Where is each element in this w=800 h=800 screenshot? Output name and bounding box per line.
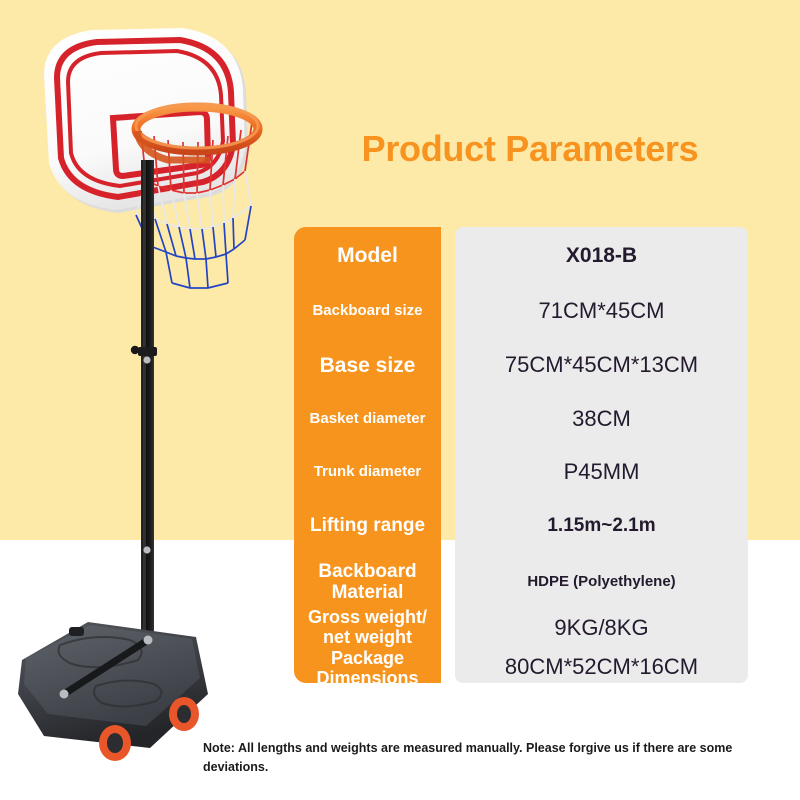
spec-label-package-line1: Package	[331, 648, 404, 668]
spec-label-backboard-material-line1: Backboard	[318, 561, 416, 582]
spec-label-basket-diameter: Basket diameter	[294, 393, 441, 446]
spec-value-gross-net-weight: 9KG/8KG	[550, 616, 652, 641]
spec-value-lifting-range: 1.15m~2.1m	[455, 499, 748, 552]
spec-label-package-line2: Dimensions	[316, 668, 418, 688]
spec-label-column: Model Backboard size Base size Basket di…	[294, 227, 441, 683]
spec-value-model: X018-B	[455, 227, 748, 285]
spec-value-weight-and-package: 9KG/8KG 80CM*52CM*16CM	[455, 612, 748, 683]
spec-value-package-dimensions: 80CM*52CM*16CM	[501, 655, 702, 680]
disclaimer-note: Note: All lengths and weights are measur…	[203, 739, 781, 778]
spec-value-column: X018-B 71CM*45CM 75CM*45CM*13CM 38CM Р45…	[455, 227, 748, 683]
base-wheel	[99, 725, 131, 761]
product-photo	[0, 0, 300, 800]
base-wheel	[169, 697, 199, 731]
spec-label-trunk-diameter: Trunk diameter	[294, 446, 441, 499]
spec-label-gross-weight-line1: Gross weight/	[308, 607, 427, 627]
page-title: Product Parameters	[300, 128, 760, 170]
spec-value-basket-diameter: 38CM	[455, 393, 748, 446]
spec-table: Model Backboard size Base size Basket di…	[294, 227, 748, 683]
spec-label-backboard-size: Backboard size	[294, 285, 441, 338]
spec-label-backboard-material: Backboard Material	[294, 552, 441, 612]
spec-label-backboard-material-line2: Material	[332, 582, 404, 603]
product-parameters-page: Product Parameters Model Backboard size …	[0, 0, 800, 800]
support-pole	[131, 160, 157, 670]
spec-label-lifting-range: Lifting range	[294, 499, 441, 552]
spec-table-gap	[441, 227, 455, 683]
rolling-base	[18, 622, 208, 761]
spec-value-backboard-material: HDPE (Polyethylene)	[455, 552, 748, 612]
spec-label-gross-weight-line2: net weight	[323, 627, 412, 647]
spec-label-model: Model	[294, 227, 441, 285]
spec-label-base-size: Base size	[294, 338, 441, 393]
spec-value-backboard-size: 71CM*45CM	[455, 285, 748, 338]
spec-label-weight-and-package: Gross weight/ net weight Package Dimensi…	[294, 612, 441, 683]
spec-value-base-size: 75CM*45CM*13CM	[455, 338, 748, 393]
spec-value-trunk-diameter: Р45MM	[455, 446, 748, 499]
